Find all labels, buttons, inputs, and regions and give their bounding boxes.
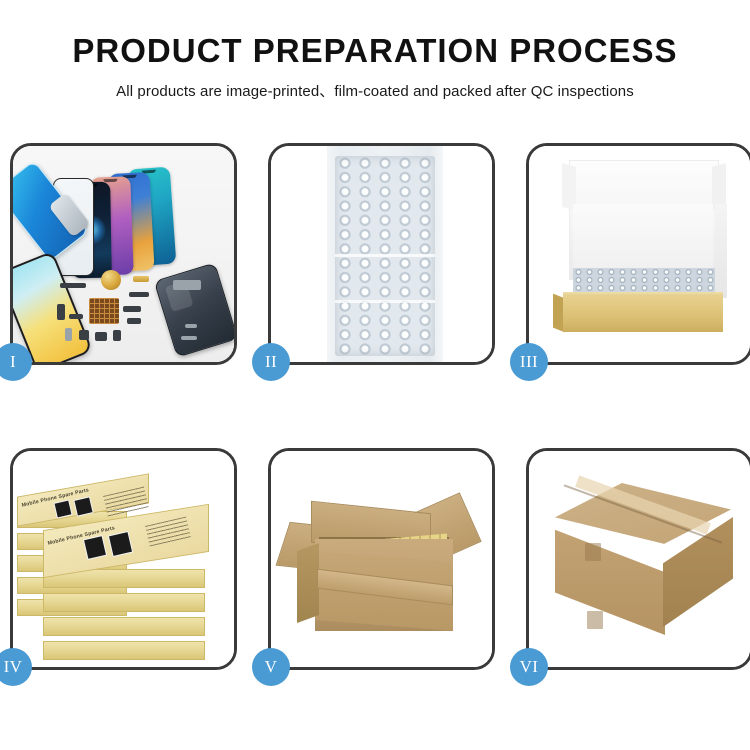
flex-cable-icon	[133, 276, 149, 282]
flex-cable-icon	[60, 283, 86, 288]
kraft-box-base-icon	[563, 296, 723, 332]
step-6-image	[529, 451, 750, 667]
carton-tab-icon	[587, 611, 603, 629]
stacked-boxes-scene: Mobile Phone Spare Parts Mobile Phone Sp…	[13, 451, 234, 667]
speaker-part-icon	[95, 332, 107, 341]
retail-box-icon	[43, 617, 205, 636]
small-component-icon	[79, 330, 89, 340]
step-panel-5: V	[268, 448, 495, 670]
step-panel-3: III	[526, 143, 750, 365]
small-component-icon	[69, 314, 83, 319]
notch-icon	[103, 179, 117, 182]
box-wall-icon	[715, 204, 727, 298]
product-photo-icon	[108, 531, 133, 557]
step-badge-3: III	[510, 343, 548, 381]
screw-set-icon	[185, 324, 197, 328]
step-panel-6: VI	[526, 448, 750, 670]
page-subtitle: All products are image-printed、film-coat…	[0, 80, 750, 101]
bubble-wrap-pouch-icon	[327, 146, 443, 362]
step-4-image: Mobile Phone Spare Parts Mobile Phone Sp…	[13, 451, 234, 667]
product-preparation-infographic: PRODUCT PREPARATION PROCESS All products…	[0, 0, 750, 750]
screw-set-icon	[181, 336, 197, 340]
gold-coin-part-icon	[101, 270, 121, 290]
step-5-image	[271, 451, 492, 667]
carton-tab-icon	[585, 543, 601, 561]
flex-cable-icon	[129, 292, 149, 297]
foam-insert-icon	[573, 204, 713, 270]
flex-cable-icon	[127, 318, 141, 324]
small-component-icon	[57, 304, 65, 320]
open-box-scene	[529, 146, 750, 362]
bag-seam-icon	[335, 300, 435, 303]
product-photo-icon	[83, 535, 107, 560]
carton-side-icon	[297, 543, 319, 623]
step-panel-1: I	[10, 143, 237, 365]
process-steps-grid: I II	[10, 143, 742, 670]
step-3-image	[529, 146, 750, 362]
step-badge-4: IV	[0, 648, 32, 686]
retail-box-icon	[43, 641, 205, 660]
step-2-image	[271, 146, 492, 362]
step-badge-1: I	[0, 343, 32, 381]
tool-icon	[173, 280, 201, 290]
step-panel-2: II	[268, 143, 495, 365]
camera-part-icon	[113, 330, 121, 341]
step-1-image	[13, 146, 234, 362]
small-component-icon	[65, 328, 72, 341]
phones-and-parts-scene	[13, 146, 234, 362]
connector-chip-icon	[89, 298, 119, 324]
page-title: PRODUCT PREPARATION PROCESS	[0, 34, 750, 69]
header: PRODUCT PREPARATION PROCESS All products…	[0, 34, 750, 101]
phone-back-housing-icon	[154, 262, 234, 357]
flex-cable-icon	[123, 306, 141, 312]
step-badge-6: VI	[510, 648, 548, 686]
bubble-wrap-scene	[271, 146, 492, 362]
sealed-carton-scene	[529, 451, 750, 667]
bag-seam-icon	[335, 254, 435, 257]
open-carton-scene	[271, 451, 492, 667]
step-panel-4: Mobile Phone Spare Parts Mobile Phone Sp…	[10, 448, 237, 670]
step-badge-2: II	[252, 343, 290, 381]
step-badge-5: V	[252, 648, 290, 686]
retail-box-icon	[43, 593, 205, 612]
